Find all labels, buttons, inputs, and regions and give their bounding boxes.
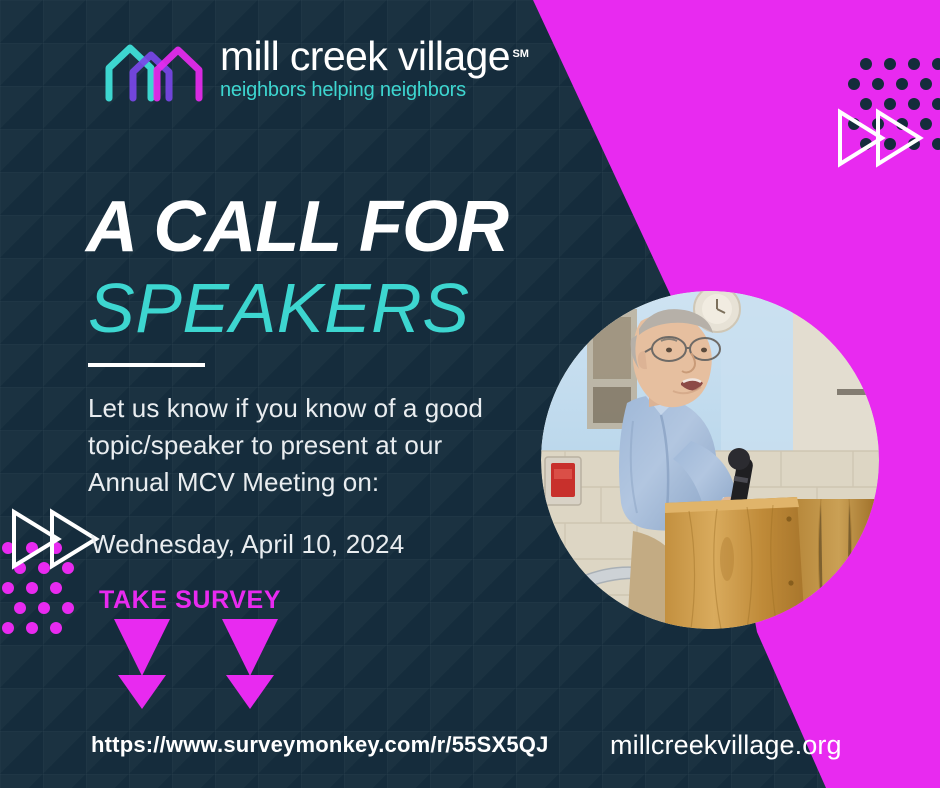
speaker-photo-image	[541, 291, 879, 629]
body-text: Let us know if you know of a good topic/…	[88, 390, 508, 501]
logo-service-mark: SM	[512, 34, 529, 74]
take-survey-label[interactable]: TAKE SURVEY	[99, 586, 281, 614]
logo-wordmark: mill creek villageSM	[220, 36, 510, 76]
headline-line-2: SPEAKERS	[88, 272, 469, 344]
headline-line-1: A CALL FOR	[86, 190, 508, 264]
poster-canvas: mill creek villageSM neighbors helping n…	[0, 0, 940, 788]
logo-wordmark-text: mill creek village	[220, 33, 510, 79]
event-date: Wednesday, April 10, 2024	[91, 528, 404, 560]
brand-logo[interactable]: mill creek villageSM neighbors helping n…	[103, 36, 510, 105]
logo-text-block: mill creek villageSM neighbors helping n…	[220, 36, 510, 101]
three-houses-logo-icon	[103, 40, 208, 105]
logo-tagline: neighbors helping neighbors	[220, 79, 510, 101]
headline-divider	[88, 363, 205, 367]
survey-url[interactable]: https://www.surveymonkey.com/r/55SX5QJ	[91, 732, 549, 758]
website-url[interactable]: millcreekvillage.org	[610, 730, 842, 760]
speaker-photo	[541, 291, 879, 629]
